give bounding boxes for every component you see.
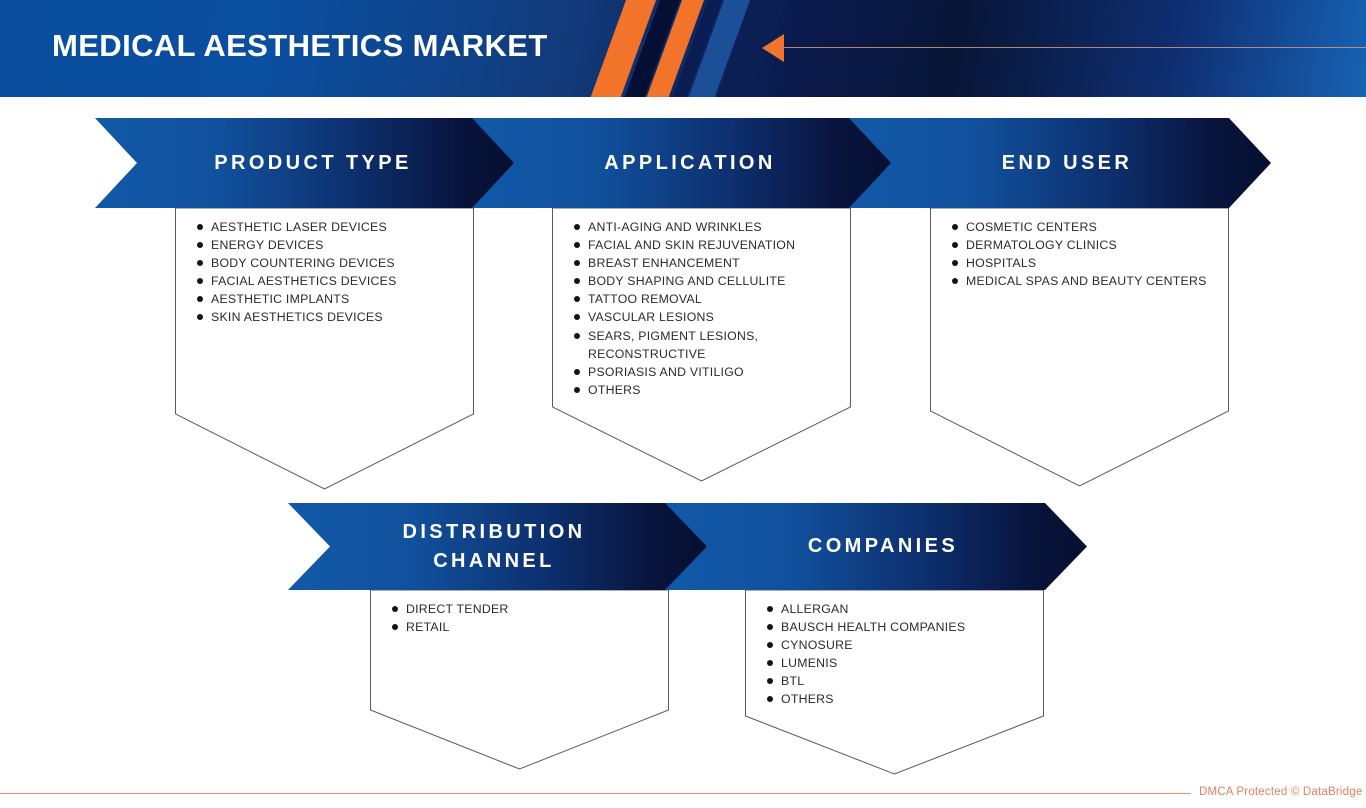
list-item: DIRECT TENDER — [406, 600, 661, 618]
list-item: AESTHETIC IMPLANTS — [211, 290, 460, 308]
page-title: MEDICAL AESTHETICS MARKET — [52, 28, 548, 64]
list-item: SEARS, PIGMENT LESIONS, RECONSTRUCTIVE — [588, 327, 843, 363]
list-item: ALLERGAN — [781, 600, 1036, 618]
list-item-label: OTHERS — [781, 692, 834, 706]
ribbon-application[interactable]: APPLICATION — [472, 118, 894, 208]
header-banner: MEDICAL AESTHETICS MARKET — [0, 0, 1366, 97]
ribbon-companies[interactable]: COMPANIES — [665, 503, 1087, 590]
list-item-label: BTL — [781, 674, 804, 688]
list-end-user: COSMETIC CENTERS DERMATOLOGY CLINICS HOS… — [966, 218, 1221, 290]
bullet-icon — [392, 606, 398, 612]
list-item-label: SEARS, PIGMENT LESIONS, RECONSTRUCTIVE — [588, 329, 758, 361]
list-distribution-channel: DIRECT TENDER RETAIL — [406, 600, 661, 636]
list-item: ENERGY DEVICES — [211, 236, 460, 254]
list-product-type: AESTHETIC LASER DEVICES ENERGY DEVICES B… — [211, 218, 460, 327]
list-application: ANTI-AGING AND WRINKLES FACIAL AND SKIN … — [588, 218, 843, 399]
list-item-label: CYNOSURE — [781, 638, 853, 652]
list-item: ANTI-AGING AND WRINKLES — [588, 218, 843, 236]
list-item-label: BODY SHAPING AND CELLULITE — [588, 274, 786, 288]
list-item-label: DIRECT TENDER — [406, 602, 509, 616]
arrow-left-icon — [762, 34, 784, 62]
list-item-label: VASCULAR LESIONS — [588, 310, 714, 324]
list-item-label: ANTI-AGING AND WRINKLES — [588, 220, 762, 234]
list-item-label: HOSPITALS — [966, 256, 1036, 270]
list-item: OTHERS — [588, 381, 843, 399]
list-item-label: OTHERS — [588, 383, 641, 397]
bullet-icon — [574, 369, 580, 375]
list-item-label: TATTOO REMOVAL — [588, 292, 702, 306]
list-item: BREAST ENHANCEMENT — [588, 254, 843, 272]
list-item: FACIAL AESTHETICS DEVICES — [211, 272, 460, 290]
footer-rule — [0, 793, 1191, 794]
card-product-type: AESTHETIC LASER DEVICES ENERGY DEVICES B… — [175, 208, 474, 490]
list-item-label: BREAST ENHANCEMENT — [588, 256, 740, 270]
bullet-icon — [574, 387, 580, 393]
list-companies: ALLERGAN BAUSCH HEALTH COMPANIES CYNOSUR… — [781, 600, 1036, 709]
header-rule — [783, 47, 1366, 48]
card-application: ANTI-AGING AND WRINKLES FACIAL AND SKIN … — [552, 208, 851, 482]
list-item-label: FACIAL AESTHETICS DEVICES — [211, 274, 397, 288]
ribbon-shape-distribution-channel — [288, 503, 710, 590]
list-item: BTL — [781, 672, 1036, 690]
list-item-label: ENERGY DEVICES — [211, 238, 324, 252]
list-item: BODY SHAPING AND CELLULITE — [588, 272, 843, 290]
card-companies: ALLERGAN BAUSCH HEALTH COMPANIES CYNOSUR… — [745, 590, 1044, 775]
ribbon-shape-end-user — [849, 118, 1271, 208]
bullet-icon — [767, 606, 773, 612]
list-item-label: SKIN AESTHETICS DEVICES — [211, 310, 383, 324]
list-item: FACIAL AND SKIN REJUVENATION — [588, 236, 843, 254]
list-item-label: ALLERGAN — [781, 602, 849, 616]
list-item: BODY COUNTERING DEVICES — [211, 254, 460, 272]
list-item-label: AESTHETIC LASER DEVICES — [211, 220, 387, 234]
list-item-label: MEDICAL SPAS AND BEAUTY CENTERS — [966, 274, 1207, 288]
list-item: DERMATOLOGY CLINICS — [966, 236, 1221, 254]
list-item-label: PSORIASIS AND VITILIGO — [588, 365, 744, 379]
list-item: PSORIASIS AND VITILIGO — [588, 363, 843, 381]
ribbon-product-type[interactable]: PRODUCT TYPE — [95, 118, 517, 208]
list-item-label: LUMENIS — [781, 656, 837, 670]
list-item-label: RETAIL — [406, 620, 450, 634]
ribbon-shape-product-type — [95, 118, 517, 208]
list-item-label: DERMATOLOGY CLINICS — [966, 238, 1117, 252]
list-item: SKIN AESTHETICS DEVICES — [211, 308, 460, 326]
ribbon-shape-companies — [665, 503, 1087, 590]
list-item: LUMENIS — [781, 654, 1036, 672]
list-item: MEDICAL SPAS AND BEAUTY CENTERS — [966, 272, 1221, 290]
list-item-label: BODY COUNTERING DEVICES — [211, 256, 395, 270]
list-item-label: AESTHETIC IMPLANTS — [211, 292, 349, 306]
list-item: OTHERS — [781, 690, 1036, 708]
ribbon-shape-application — [472, 118, 894, 208]
footer-credit: DMCA Protected © DataBridge — [1199, 786, 1362, 798]
list-item: COSMETIC CENTERS — [966, 218, 1221, 236]
card-end-user: COSMETIC CENTERS DERMATOLOGY CLINICS HOS… — [930, 208, 1229, 487]
bullet-icon — [952, 224, 958, 230]
list-item-label: BAUSCH HEALTH COMPANIES — [781, 620, 965, 634]
list-item-label: FACIAL AND SKIN REJUVENATION — [588, 238, 795, 252]
card-distribution-channel: DIRECT TENDER RETAIL — [370, 590, 669, 770]
bullet-icon — [574, 224, 580, 230]
ribbon-end-user[interactable]: END USER — [849, 118, 1271, 208]
list-item: CYNOSURE — [781, 636, 1036, 654]
list-item-label: COSMETIC CENTERS — [966, 220, 1097, 234]
list-item: BAUSCH HEALTH COMPANIES — [781, 618, 1036, 636]
list-item: TATTOO REMOVAL — [588, 290, 843, 308]
list-item: HOSPITALS — [966, 254, 1221, 272]
bullet-icon — [197, 224, 203, 230]
list-item: AESTHETIC LASER DEVICES — [211, 218, 460, 236]
list-item: VASCULAR LESIONS — [588, 308, 843, 326]
bullet-icon — [574, 333, 580, 339]
list-item: RETAIL — [406, 618, 661, 636]
ribbon-distribution-channel[interactable]: DISTRIBUTION CHANNEL — [288, 503, 710, 590]
